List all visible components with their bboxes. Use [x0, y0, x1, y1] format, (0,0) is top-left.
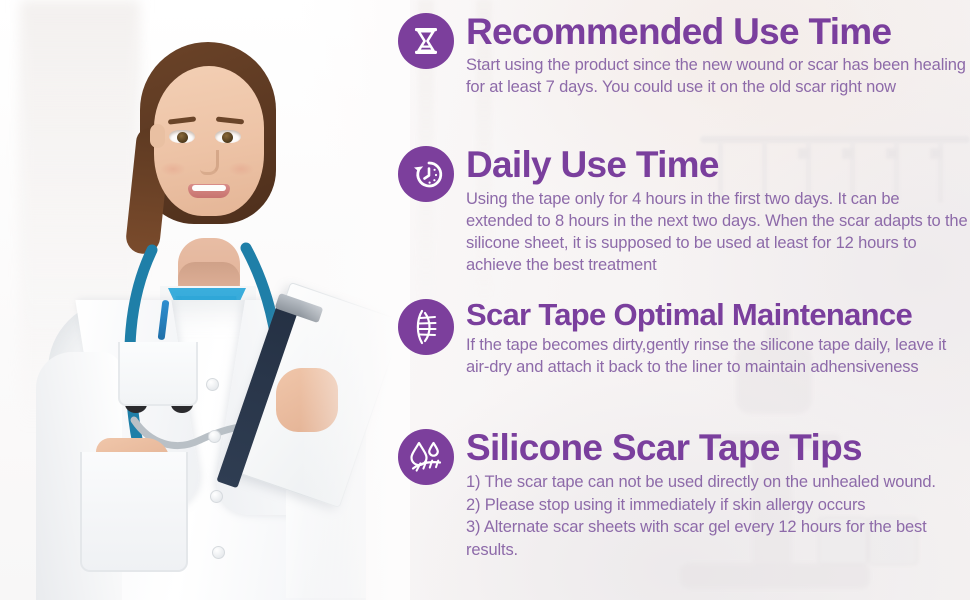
clock-restore-icon: [398, 146, 454, 202]
section-text: Silicone Scar Tape Tips 1) The scar tape…: [466, 426, 970, 561]
droplets-scar-icon: [398, 429, 454, 485]
photo-edge-fade: [300, 0, 410, 600]
scar-sutures-icon: [398, 299, 454, 355]
section-text: Recommended Use Time Start using the pro…: [466, 10, 970, 98]
section-title: Daily Use Time: [466, 143, 970, 187]
coat-button: [210, 490, 223, 503]
chest-pocket: [118, 342, 198, 406]
iris-right: [222, 132, 233, 143]
coat-button: [212, 546, 225, 559]
section-title: Scar Tape Optimal Maintenance: [466, 296, 970, 334]
coat-button: [208, 430, 221, 443]
section-scar-tape-optimal-maintenance: Scar Tape Optimal Maintenance If the tap…: [398, 296, 970, 378]
section-silicone-scar-tape-tips: Silicone Scar Tape Tips 1) The scar tape…: [398, 426, 970, 561]
section-body: If the tape becomes dirty,gently rinse t…: [466, 335, 970, 378]
side-pocket: [80, 452, 188, 572]
section-recommended-use-time: Recommended Use Time Start using the pro…: [398, 10, 970, 98]
hourglass-icon: [398, 13, 454, 69]
cheek-right: [228, 162, 254, 176]
cheek-left: [160, 162, 186, 176]
section-body: Using the tape only for 4 hours in the f…: [466, 188, 970, 276]
section-text: Scar Tape Optimal Maintenance If the tap…: [466, 296, 970, 378]
doctor-photo: [0, 0, 410, 600]
section-daily-use-time: Daily Use Time Using the tape only for 4…: [398, 143, 970, 276]
ear: [150, 124, 165, 148]
section-title: Recommended Use Time: [466, 10, 970, 54]
teeth: [192, 185, 226, 191]
iris-left: [177, 132, 188, 143]
product-infographic-banner: Recommended Use Time Start using the pro…: [0, 0, 970, 600]
nose: [200, 150, 219, 175]
coat-button: [206, 378, 219, 391]
section-body: 1) The scar tape can not be used directl…: [466, 471, 970, 561]
content-panel: Recommended Use Time Start using the pro…: [398, 0, 970, 600]
section-title: Silicone Scar Tape Tips: [466, 426, 970, 470]
section-body: Start using the product since the new wo…: [466, 55, 970, 98]
section-text: Daily Use Time Using the tape only for 4…: [466, 143, 970, 276]
